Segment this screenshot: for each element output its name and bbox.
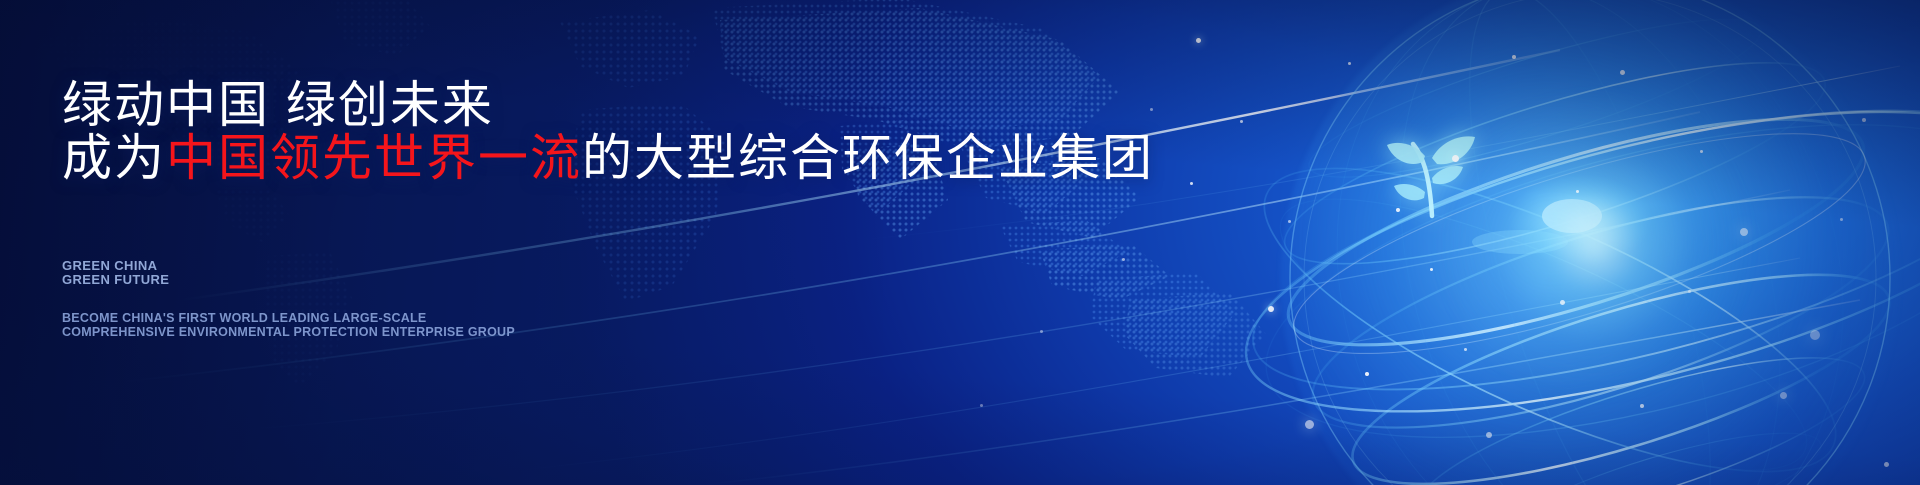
headline-line-2-highlight: 中国领先世界一流 <box>166 130 582 186</box>
headline-line-2-prefix: 成为 <box>62 130 166 186</box>
english-slogan-line-2: GREEN FUTURE <box>62 273 169 287</box>
english-slogan-line-1: GREEN CHINA <box>62 259 169 273</box>
banner-content: 绿动中国 绿创未来 成为中国领先世界一流的大型综合环保企业集团 GREEN CH… <box>60 0 1060 485</box>
english-tagline-line-2: COMPREHENSIVE ENVIRONMENTAL PROTECTION E… <box>62 325 515 339</box>
english-tagline-line-1: BECOME CHINA'S FIRST WORLD LEADING LARGE… <box>62 311 515 325</box>
headline-line-2: 成为中国领先世界一流的大型综合环保企业集团 <box>62 133 1154 183</box>
english-tagline: BECOME CHINA'S FIRST WORLD LEADING LARGE… <box>62 311 515 339</box>
headline-line-2-suffix: 的大型综合环保企业集团 <box>582 130 1154 186</box>
hero-banner: 绿动中国 绿创未来 成为中国领先世界一流的大型综合环保企业集团 GREEN CH… <box>0 0 1920 485</box>
headline-line-1: 绿动中国 绿创未来 <box>62 80 494 130</box>
english-slogan: GREEN CHINA GREEN FUTURE <box>62 259 169 287</box>
